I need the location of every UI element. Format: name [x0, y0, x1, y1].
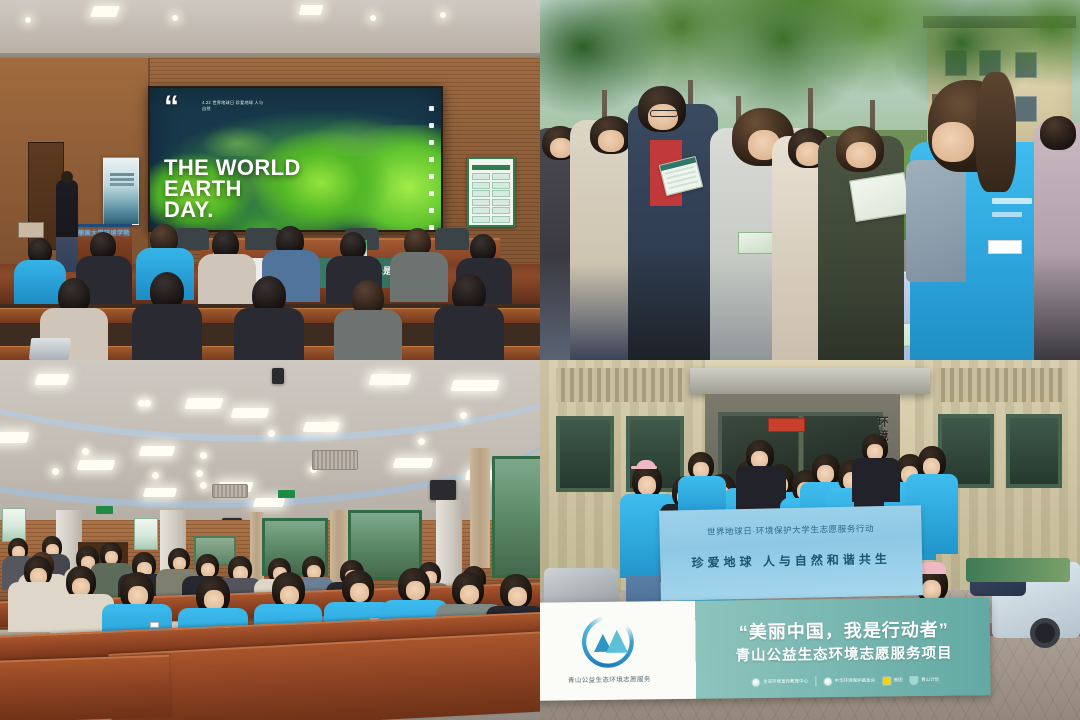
slide-headline-line1: THE WORLD [164, 157, 301, 178]
presentation-screen: “ 4.22 世界地球日 珍爱地球 人与自然 THE WORLD EARTH D… [148, 86, 443, 232]
entrance-canopy [690, 368, 930, 394]
sponsor-item: 青山计划 [910, 675, 940, 684]
name-badge [988, 240, 1022, 254]
ceiling-light-linear [34, 374, 69, 385]
scooter-wheel [1030, 618, 1060, 648]
panel-group-photo: Group photo of volunteers holding banner… [540, 360, 1080, 720]
logo-caption-cn: 青山公益生态环境志愿服务 [554, 673, 664, 684]
blue-banner: 世界地球日·环境保护大学生志愿服务行动 珍爱地球 人与自然和谐共生 [659, 505, 923, 600]
ac-vent [212, 484, 248, 498]
ceiling-light-linear [77, 460, 116, 470]
sponsor-name-cn: 生态环境宣传教育中心 [763, 678, 808, 685]
stage-chair [175, 228, 209, 250]
ponytail [976, 72, 1016, 192]
stage-chair [245, 228, 279, 250]
wall-speaker [430, 480, 456, 500]
hall-window [492, 456, 540, 578]
ceiling-light-linear [368, 374, 411, 385]
ceiling-light-linear [253, 498, 286, 507]
eyeglasses-icon [650, 110, 678, 117]
sponsor-item: 中华环境保护基金会 [823, 676, 875, 686]
notice-board-right [467, 157, 515, 227]
slide-dot-strip [429, 106, 434, 232]
audience-torso [390, 252, 448, 302]
wall-notice [134, 518, 158, 550]
audience-torso [334, 310, 402, 360]
audience-torso [132, 304, 202, 360]
ceiling-downlight [370, 15, 376, 21]
student-face [648, 104, 678, 130]
ceiling-downlight [25, 17, 31, 23]
curtain [470, 448, 490, 568]
bench [966, 558, 1070, 582]
banner-sponsor-row: 生态环境宣传教育中心 中华环境保护基金会 美团 青山计划 [710, 671, 980, 690]
ceiling-light [299, 5, 323, 15]
ceiling-downlight [440, 12, 446, 18]
sponsor-name-cn: 青山计划 [921, 677, 939, 683]
red-door-sign [768, 418, 805, 432]
volunteer-face [932, 122, 974, 162]
exit-sign [278, 490, 295, 498]
divider [815, 676, 816, 686]
panel-outdoor-booth: Outdoor campus booth - students reading … [540, 0, 1080, 360]
seal-icon [752, 677, 761, 686]
vest-text-line [992, 198, 1032, 204]
louver-vent [556, 368, 684, 402]
slide-headline-line2: EARTH [164, 178, 301, 199]
wall-notice [2, 508, 26, 542]
ceiling [0, 0, 540, 62]
student-face [846, 142, 876, 168]
denim-sleeve [906, 160, 966, 282]
ceiling-light-linear [393, 458, 434, 468]
student-face [550, 138, 572, 158]
slide-photo-highlights [150, 114, 441, 157]
stage-chair [435, 228, 469, 250]
vest-text-line [992, 212, 1022, 217]
sponsor-name-cn: 美团 [894, 677, 903, 683]
side-window [556, 416, 614, 492]
audience-torso [434, 306, 504, 360]
laptop [29, 338, 71, 360]
ac-vent [312, 450, 358, 470]
exit-sign [96, 506, 113, 514]
blue-banner-line2-cn: 珍爱地球 人与自然和谐共生 [672, 550, 910, 572]
ceiling-light-linear [139, 446, 176, 456]
louver-vent [936, 368, 1064, 402]
ceiling-light-linear [450, 380, 499, 391]
panel-lecture-hall: Lecture hall audience seated at wooden d… [0, 360, 540, 720]
sponsor-name-cn: 中华环境保护基金会 [835, 678, 876, 684]
ceiling-downlight [172, 15, 178, 21]
audience-torso [198, 254, 256, 304]
sponsor-item: 生态环境宣传教育中心 [752, 677, 809, 687]
panel-auditorium-presentation: Auditorium lecture with World Earth Day … [0, 0, 540, 360]
ceiling-light-linear [231, 408, 270, 418]
student-face [598, 130, 624, 152]
student-body [1034, 120, 1080, 360]
audience-torso [234, 308, 304, 360]
banner-subtitle-cn: 青山公益生态环境志愿服务项目 [708, 641, 980, 665]
ceiling-light-linear [0, 432, 30, 443]
ceiling-light [90, 6, 120, 17]
quote-mark-icon: “ [164, 94, 177, 120]
wall-plate [18, 222, 44, 238]
qingshan-logo-icon [582, 616, 635, 669]
ceiling-light-linear [184, 398, 223, 409]
ceiling-speaker [272, 368, 284, 384]
slide-headline: THE WORLD EARTH DAY. [164, 157, 301, 220]
blue-banner-line1-cn: 世界地球日·环境保护大学生志愿服务行动 [671, 522, 909, 539]
foundation-icon [823, 677, 832, 686]
poster-left [103, 157, 139, 225]
meituan-icon [882, 676, 891, 685]
ceiling-light-linear [143, 488, 178, 497]
printed-handout [849, 172, 911, 222]
audience [0, 250, 540, 360]
mountain-icon [910, 676, 919, 685]
photo-collage: Auditorium lecture with World Earth Day … [0, 0, 1080, 720]
desk-row-front-left [0, 655, 171, 720]
student-head [1040, 116, 1076, 150]
side-window [1006, 414, 1062, 488]
main-banner: 青山公益生态环境志愿服务 “美丽中国，我是行动者” 青山公益生态环境志愿服务项目… [540, 597, 991, 701]
slide-headline-line3: DAY. [164, 199, 301, 220]
banner-main-title-cn: “美丽中国，我是行动者” [708, 615, 980, 644]
sponsor-item: 美团 [882, 676, 903, 685]
slide-caption-cn: 4.22 世界地球日 珍爱地球 人与自然 [202, 100, 264, 112]
